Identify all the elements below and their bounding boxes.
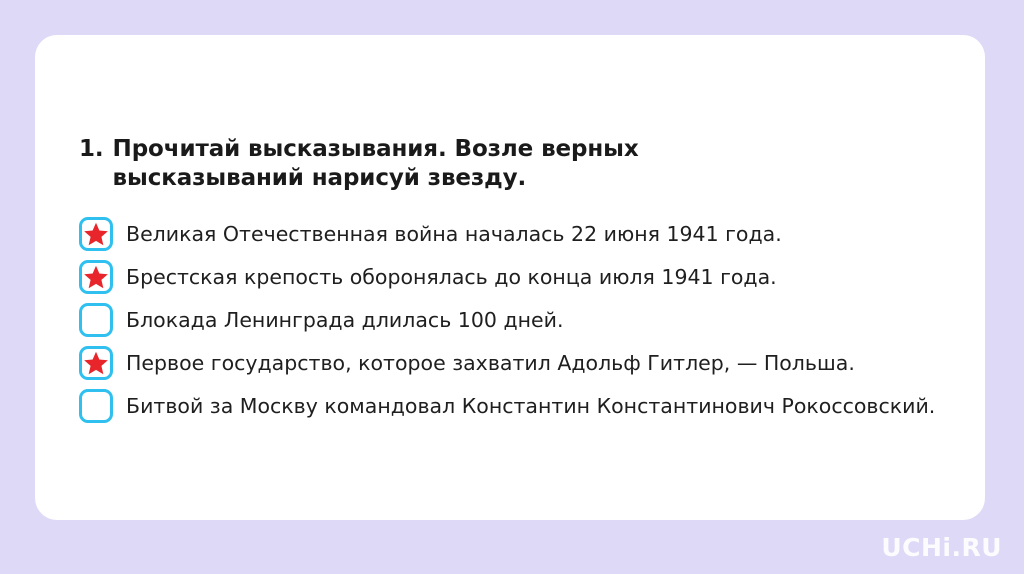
watermark-logo: UCHi.RU (881, 533, 1002, 562)
task-block: 1. Прочитай высказывания. Возле верных в… (79, 135, 955, 423)
star-icon[interactable] (79, 217, 113, 251)
task-number: 1. (79, 135, 104, 164)
slide-background: 1. Прочитай высказывания. Возле верных в… (0, 0, 1024, 574)
list-item[interactable]: Битвой за Москву командовал Константин К… (79, 389, 955, 423)
statement-text: Блокада Ленинграда длилась 100 дней. (126, 308, 563, 333)
list-item[interactable]: Великая Отечественная война началась 22 … (79, 217, 955, 251)
statement-text: Брестская крепость оборонялась до конца … (126, 265, 777, 290)
star-icon[interactable] (79, 346, 113, 380)
list-item[interactable]: Первое государство, которое захватил Адо… (79, 346, 955, 380)
list-item[interactable]: Блокада Ленинграда длилась 100 дней. (79, 303, 955, 337)
content-card: 1. Прочитай высказывания. Возле верных в… (35, 35, 985, 520)
list-item[interactable]: Брестская крепость оборонялась до конца … (79, 260, 955, 294)
statement-text: Первое государство, которое захватил Адо… (126, 351, 855, 376)
star-icon[interactable] (79, 260, 113, 294)
statement-text: Великая Отечественная война началась 22 … (126, 222, 782, 247)
task-heading: 1. Прочитай высказывания. Возле верных в… (79, 135, 955, 194)
statement-list: Великая Отечественная война началась 22 … (79, 217, 955, 423)
statement-text: Битвой за Москву командовал Константин К… (126, 394, 935, 419)
empty-checkbox-icon[interactable] (79, 389, 113, 423)
empty-checkbox-icon[interactable] (79, 303, 113, 337)
page-title: Прочитай высказывания. Возле верных выск… (113, 135, 813, 194)
